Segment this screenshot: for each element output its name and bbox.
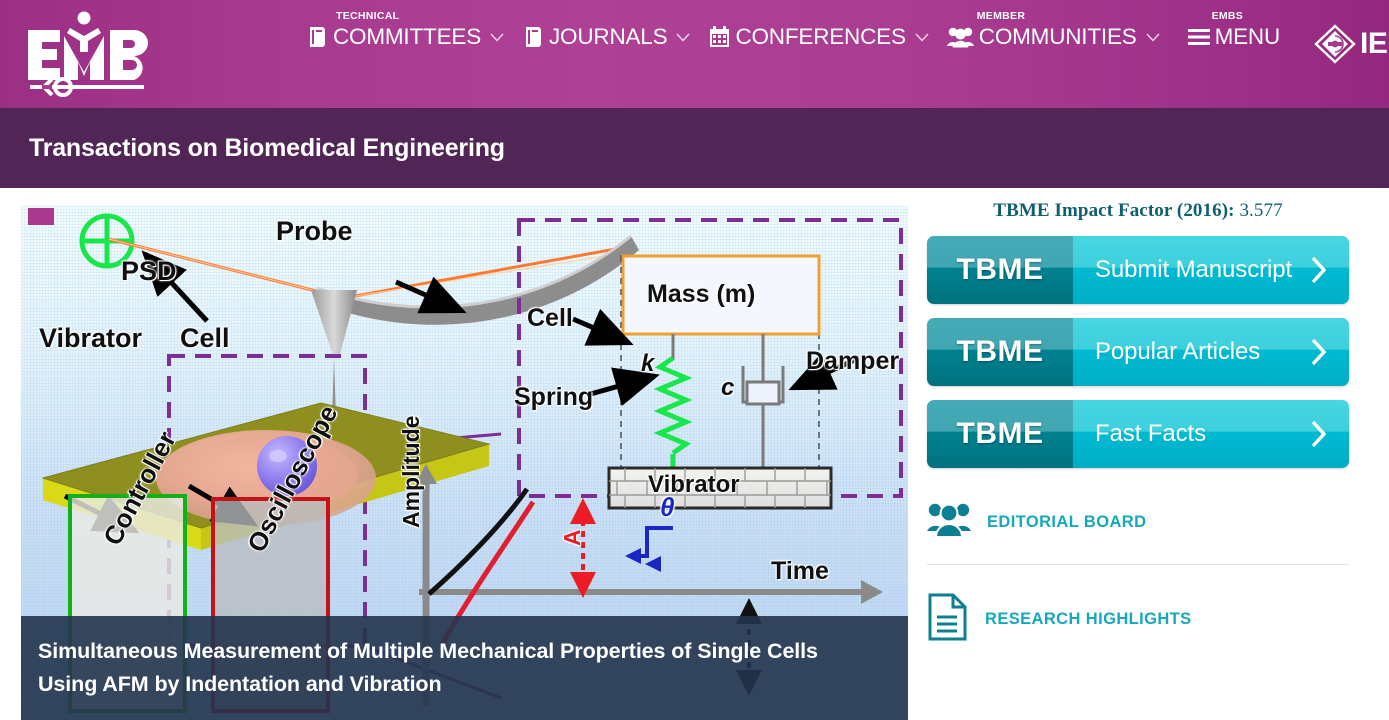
fast-facts-label: Fast Facts (1095, 420, 1206, 448)
figure-label-cell: Cell (180, 323, 230, 354)
nav-item-menu[interactable]: EMBS MENU (1182, 24, 1286, 50)
nav-label-conferences: CONFERENCES (735, 24, 905, 50)
featured-article[interactable]: PSD Probe Vibrator Cell Mass (m) Cell Sp… (0, 188, 908, 720)
journal-title-bar: Transactions on Biomedical Engineering (0, 108, 1389, 188)
nav-kicker-communities: MEMBER (977, 10, 1025, 22)
nav-label-communities: COMMUNITIES (979, 24, 1137, 50)
figure-label-psd: PSD (121, 256, 177, 287)
figure-label-probe: Probe (276, 216, 353, 247)
tbme-badge-label: TBME (957, 417, 1044, 451)
nav-kicker-committees: TECHNICAL (336, 10, 399, 22)
figure-label-theta: θ (660, 492, 675, 523)
figure-label-amplitude: Amplitude (398, 416, 425, 528)
article-caption[interactable]: Simultaneous Measurement of Multiple Mec… (21, 616, 908, 720)
popular-articles-button[interactable]: TBME Popular Articles (927, 318, 1349, 386)
impact-factor: TBME Impact Factor (2016): 3.577 (927, 200, 1349, 222)
fast-facts-label-wrap: Fast Facts (1073, 400, 1349, 468)
figure-label-amplitude-marker: A (559, 529, 586, 546)
tbme-badge-label: TBME (957, 335, 1044, 369)
nav-item-communities[interactable]: MEMBER COMMUNITIES (941, 24, 1172, 50)
sidebar: TBME Impact Factor (2016): 3.577 TBME Su… (908, 188, 1389, 720)
tbme-badge: TBME (927, 236, 1073, 304)
figure-label-vibrator: Vibrator (39, 323, 142, 354)
figure-label-damper: Damper (806, 347, 899, 376)
impact-factor-label: TBME Impact Factor (2016): (993, 200, 1234, 221)
nav-item-committees[interactable]: TECHNICAL COMMITTEES (300, 24, 516, 50)
nav-items: TECHNICAL COMMITTEES JOURNALS CONFERENCE… (300, 0, 1389, 108)
ieee-logo[interactable]: IEEE (1314, 24, 1389, 64)
chevron-right-icon (1309, 255, 1329, 285)
sidebar-divider (927, 564, 1349, 565)
figure-label-time: Time (771, 557, 829, 586)
research-highlights-label: RESEARCH HIGHLIGHTS (985, 610, 1192, 629)
nav-label-menu: MENU (1215, 24, 1280, 50)
figure-label-mass: Mass (m) (647, 280, 755, 309)
hamburger-icon[interactable] (1188, 25, 1210, 49)
caption-line-2: Using AFM by Indentation and Vibration (38, 668, 891, 701)
chevron-down-icon[interactable] (490, 33, 504, 42)
caption-line-1: Simultaneous Measurement of Multiple Mec… (38, 635, 891, 668)
submit-manuscript-button[interactable]: TBME Submit Manuscript (927, 236, 1349, 304)
chevron-down-icon[interactable] (1146, 33, 1160, 42)
emb-logo[interactable] (0, 0, 300, 108)
chevron-right-icon (1309, 419, 1329, 449)
chevron-down-icon[interactable] (676, 33, 690, 42)
fast-facts-button[interactable]: TBME Fast Facts (927, 400, 1349, 468)
editorial-board-link[interactable]: EDITORIAL BOARD (927, 486, 1349, 558)
calendar-icon (708, 25, 730, 49)
submit-manuscript-label-wrap: Submit Manuscript (1073, 236, 1349, 304)
book-icon (522, 25, 544, 49)
popular-articles-label-wrap: Popular Articles (1073, 318, 1349, 386)
top-navigation-bar: TECHNICAL COMMITTEES JOURNALS CONFERENCE… (0, 0, 1389, 108)
chevron-down-icon[interactable] (915, 33, 929, 42)
people-group-icon (927, 501, 971, 544)
book-icon (306, 25, 328, 49)
people-icon (947, 25, 974, 49)
page-content: PSD Probe Vibrator Cell Mass (m) Cell Sp… (0, 188, 1389, 720)
nav-label-journals: JOURNALS (549, 24, 667, 50)
nav-item-journals[interactable]: JOURNALS (516, 24, 702, 50)
research-highlights-link[interactable]: RESEARCH HIGHLIGHTS (927, 583, 1349, 655)
chevron-right-icon (1309, 337, 1329, 367)
figure-label-k: k (641, 350, 654, 378)
nav-label-committees: COMMITTEES (333, 24, 481, 50)
emb-logo-icon (22, 6, 162, 98)
ieee-wordmark: IEEE (1360, 27, 1389, 61)
figure-label-cell-model: Cell (527, 304, 573, 333)
tbme-badge: TBME (927, 318, 1073, 386)
figure-label-spring: Spring (514, 383, 593, 412)
nav-item-conferences[interactable]: CONFERENCES (702, 24, 940, 50)
editorial-board-label: EDITORIAL BOARD (987, 513, 1146, 532)
document-lines-icon (927, 593, 969, 646)
nav-kicker-menu: EMBS (1212, 10, 1244, 22)
tbme-badge-label: TBME (957, 253, 1044, 287)
impact-factor-value: 3.577 (1239, 200, 1282, 221)
popular-articles-label: Popular Articles (1095, 338, 1260, 366)
submit-manuscript-label: Submit Manuscript (1095, 256, 1292, 284)
ieee-diamond-logo-icon (1314, 24, 1358, 64)
page-title: Transactions on Biomedical Engineering (29, 134, 505, 163)
tbme-badge: TBME (927, 400, 1073, 468)
figure-label-c: c (721, 374, 734, 402)
